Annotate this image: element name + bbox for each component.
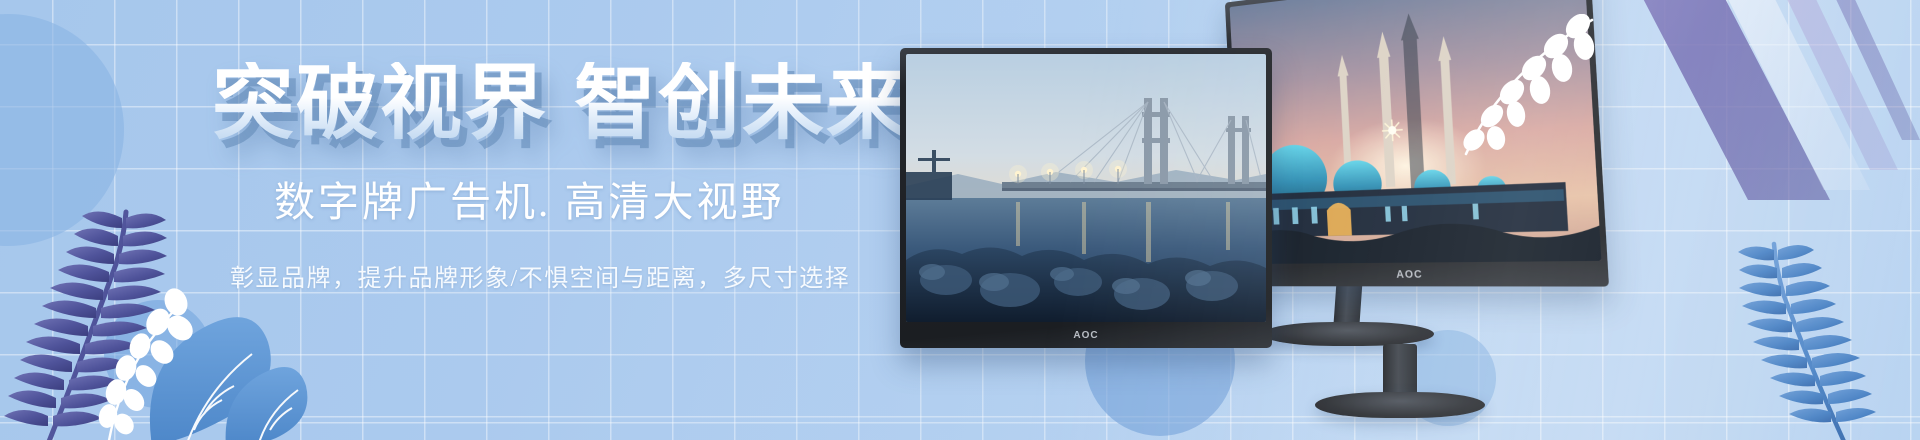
- banner-headline: 突破视界智创未来: [212, 62, 912, 146]
- banner-subtitle: 数字牌广告机. 高清大视野: [274, 168, 912, 228]
- monitor-front-chin: AOC: [900, 322, 1272, 348]
- monitor-front-bezel: AOC: [900, 48, 1272, 348]
- aoc-logo-secondary: AOC: [1396, 268, 1423, 280]
- product-monitors: AOC: [880, 0, 1920, 440]
- headline-part-1: 突破视界: [212, 58, 548, 149]
- banner-tagline: 彰显品牌，提升品牌形象/不惧空间与距离，多尺寸选择: [230, 258, 912, 293]
- promo-banner: 突破视界智创未来 数字牌广告机. 高清大视野 彰显品牌，提升品牌形象/不惧空间与…: [0, 0, 1920, 440]
- monitor-rear[interactable]: AOC: [1225, 0, 1609, 287]
- monitor-rear-base: [1262, 322, 1434, 346]
- monitor-rear-chin: AOC: [1238, 261, 1609, 287]
- decorative-circle-left-small: [104, 300, 212, 408]
- aoc-logo: AOC: [1073, 330, 1098, 341]
- monitor-rear-bezel: AOC: [1225, 0, 1609, 287]
- headline-part-2: 智创未来: [574, 58, 910, 149]
- monitor-front-screen: [906, 54, 1266, 322]
- mosque-dusk-photo: [1230, 0, 1602, 264]
- monitor-front-base: [1315, 392, 1485, 418]
- monitor-rear-screen: [1230, 0, 1602, 264]
- monitor-front[interactable]: AOC: [900, 48, 1272, 348]
- banner-text-block: 突破视界智创未来 数字牌广告机. 高清大视野 彰显品牌，提升品牌形象/不惧空间与…: [212, 62, 912, 293]
- bridge-sunset-photo: [906, 54, 1266, 322]
